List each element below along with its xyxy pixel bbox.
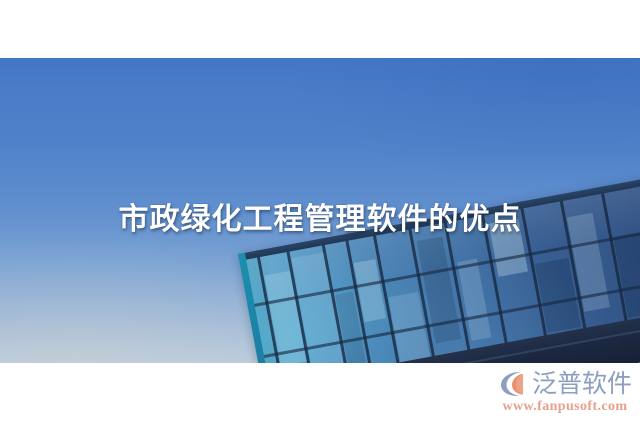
- page-title: 市政绿化工程管理软件的优点: [0, 198, 640, 242]
- logo-row: 泛普软件: [498, 370, 632, 398]
- logo-url: www.fanpusoft.com: [502, 399, 627, 415]
- top-white-band: [0, 0, 640, 58]
- banner-image: 市政绿化工程管理软件的优点 泛普软件 www.fanpusoft.com: [0, 0, 640, 427]
- brand-logo: 泛普软件 www.fanpusoft.com: [498, 370, 632, 415]
- logo-wordmark: 泛普软件: [532, 371, 632, 397]
- fanpu-logo-mark-icon: [498, 370, 528, 398]
